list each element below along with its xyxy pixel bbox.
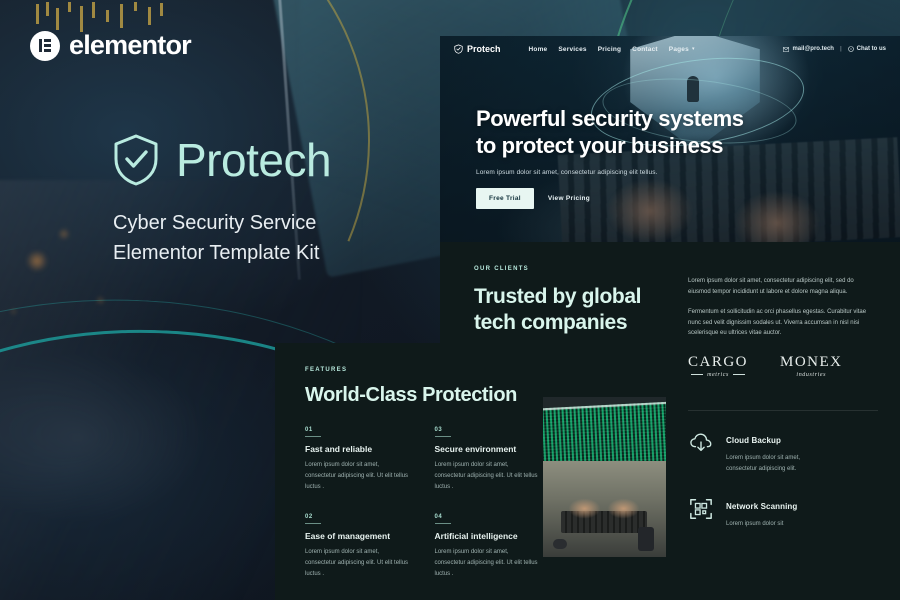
- client-logo-row: CARGO metrics MONEX industries: [688, 354, 878, 378]
- feature-item-04[interactable]: 04 Artificial intelligence Lorem ipsum d…: [435, 514, 541, 579]
- navbar-chat[interactable]: Chat to us: [848, 46, 886, 52]
- feature-item-03[interactable]: 03 Secure environment Lorem ipsum dolor …: [435, 427, 541, 492]
- clients-paragraph-1: Lorem ipsum dolor sit amet, consectetur …: [688, 276, 868, 297]
- site-navbar: Protech Home Services Pricing Contact Pa…: [440, 36, 900, 62]
- feature-title: Fast and reliable: [305, 444, 411, 454]
- elementor-wordmark: elementor: [69, 30, 191, 61]
- service-text: Lorem ipsum dolor sit: [726, 519, 822, 530]
- service-item-cloud-backup-text: Cloud Backup Lorem ipsum dolor sit amet,…: [726, 430, 822, 474]
- promo-banner: elementor Protech Cyber Security Service…: [0, 0, 900, 600]
- client-logo-cargo: CARGO metrics: [688, 354, 748, 378]
- hands-graphic: [565, 493, 643, 519]
- hero-cta-group: Free Trial View Pricing: [476, 188, 872, 209]
- view-pricing-button[interactable]: View Pricing: [548, 195, 590, 202]
- navbar-email-label: mail@pro.tech: [792, 46, 834, 52]
- hero-preview-panel[interactable]: Protech Home Services Pricing Contact Pa…: [440, 36, 900, 242]
- decorative-glow-c: [96, 296, 105, 305]
- cloud-download-icon: [688, 430, 714, 456]
- decorative-glow-a: [26, 250, 48, 272]
- phone-graphic: [638, 527, 654, 551]
- elementor-logo-icon: [30, 31, 60, 61]
- feature-text: Lorem ipsum dolor sit amet, consectetur …: [305, 547, 411, 579]
- clients-divider: [688, 410, 878, 411]
- product-name: Protech: [176, 137, 331, 183]
- navbar-separator: |: [840, 46, 842, 52]
- mouse-graphic: [553, 539, 567, 549]
- product-brand: Protech: [112, 133, 331, 187]
- nav-item-home[interactable]: Home: [529, 46, 548, 53]
- nav-item-pages[interactable]: Pages: [669, 46, 689, 53]
- decorative-glow-b: [58, 228, 70, 240]
- features-eyebrow: FEATURES: [305, 367, 517, 373]
- chevron-down-icon: ▾: [692, 46, 695, 52]
- free-trial-button[interactable]: Free Trial: [476, 188, 534, 209]
- decorative-glow-d: [10, 308, 17, 315]
- feature-text: Lorem ipsum dolor sit amet, consectetur …: [435, 547, 541, 579]
- services-list: Cloud Backup Lorem ipsum dolor sit amet,…: [688, 430, 888, 552]
- client-logo-cargo-name: CARGO: [688, 354, 748, 371]
- hero-headline-line-2: to protect your business: [476, 133, 872, 160]
- hero-copy: Powerful security systems to protect you…: [476, 106, 872, 209]
- shield-check-icon: [454, 44, 463, 54]
- feature-rule: [305, 523, 321, 524]
- client-logo-cargo-rule: metrics: [688, 371, 748, 378]
- navbar-email[interactable]: mail@pro.tech: [783, 46, 834, 52]
- feature-title: Secure environment: [435, 444, 541, 454]
- service-item-cloud-backup[interactable]: Cloud Backup Lorem ipsum dolor sit amet,…: [688, 430, 888, 474]
- elementor-logo: elementor: [30, 30, 191, 61]
- hero-headline: Powerful security systems to protect you…: [476, 106, 872, 160]
- client-logo-cargo-sub: metrics: [707, 372, 729, 378]
- nav-item-contact[interactable]: Contact: [632, 46, 658, 53]
- service-item-network-scanning-text: Network Scanning Lorem ipsum dolor sit: [726, 496, 822, 530]
- shield-check-icon: [112, 133, 160, 187]
- service-text: Lorem ipsum dolor sit amet, consectetur …: [726, 453, 822, 474]
- chat-bubble-icon: [848, 46, 854, 52]
- nav-item-pricing[interactable]: Pricing: [598, 46, 621, 53]
- feature-rule: [435, 436, 451, 437]
- client-logo-monex-sub: industries: [780, 372, 843, 378]
- clients-heading-line-1: Trusted by global: [474, 284, 664, 310]
- hero-headline-line-1: Powerful security systems: [476, 106, 872, 133]
- clients-heading-block: OUR CLIENTS Trusted by global tech compa…: [474, 266, 664, 335]
- navbar-links: Home Services Pricing Contact Pages ▾: [529, 46, 695, 53]
- features-heading: World-Class Protection: [305, 384, 517, 407]
- clients-eyebrow: OUR CLIENTS: [474, 266, 664, 272]
- features-preview-panel[interactable]: FEATURES World-Class Protection 01 Fast …: [275, 343, 685, 600]
- navbar-brand[interactable]: Protech: [454, 44, 501, 54]
- feature-text: Lorem ipsum dolor sit amet, consectetur …: [435, 460, 541, 492]
- service-item-network-scanning[interactable]: Network Scanning Lorem ipsum dolor sit: [688, 496, 888, 530]
- feature-title: Artificial intelligence: [435, 531, 541, 541]
- mail-icon: [783, 47, 789, 52]
- feature-rule: [435, 523, 451, 524]
- feature-number: 04: [435, 514, 541, 520]
- feature-title: Ease of management: [305, 531, 411, 541]
- clients-body-text: Lorem ipsum dolor sit amet, consectetur …: [688, 276, 868, 339]
- clients-heading-line-2: tech companies: [474, 310, 664, 336]
- service-title: Cloud Backup: [726, 436, 781, 445]
- client-logo-monex: MONEX industries: [780, 354, 843, 378]
- nav-item-services[interactable]: Services: [558, 46, 586, 53]
- navbar-brand-label: Protech: [467, 44, 501, 54]
- feature-text: Lorem ipsum dolor sit amet, consectetur …: [305, 460, 411, 492]
- client-logo-monex-name: MONEX: [780, 354, 843, 371]
- hero-subheadline: Lorem ipsum dolor sit amet, consectetur …: [476, 169, 872, 176]
- service-title: Network Scanning: [726, 502, 797, 511]
- feature-item-01[interactable]: 01 Fast and reliable Lorem ipsum dolor s…: [305, 427, 411, 492]
- navbar-utility: mail@pro.tech | Chat to us: [783, 46, 886, 52]
- feature-number: 02: [305, 514, 411, 520]
- feature-item-02[interactable]: 02 Ease of management Lorem ipsum dolor …: [305, 514, 411, 579]
- feature-number: 03: [435, 427, 541, 433]
- feature-number: 01: [305, 427, 411, 433]
- navbar-chat-label: Chat to us: [857, 46, 886, 52]
- clients-paragraph-2: Fermentum et sollicitudin ac orci phasel…: [688, 307, 868, 339]
- feature-rule: [305, 436, 321, 437]
- network-scan-icon: [688, 496, 714, 522]
- clients-heading: Trusted by global tech companies: [474, 284, 664, 335]
- features-heading-block: FEATURES World-Class Protection: [305, 367, 517, 407]
- features-grid: 01 Fast and reliable Lorem ipsum dolor s…: [305, 427, 540, 580]
- features-photo: [543, 397, 666, 557]
